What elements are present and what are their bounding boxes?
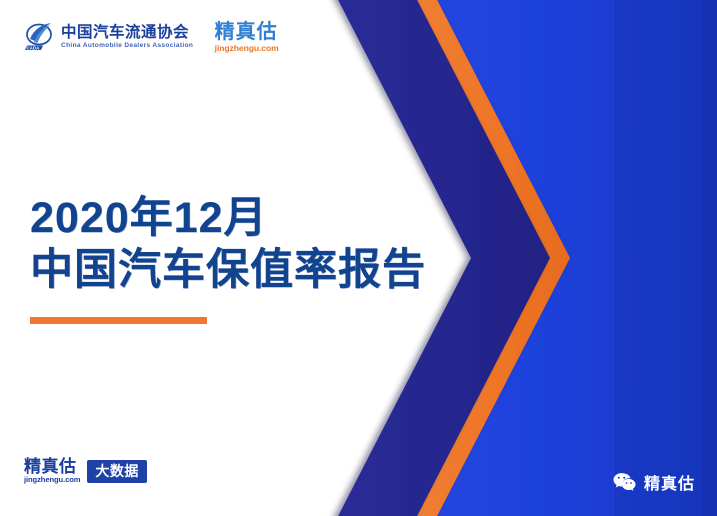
- footer-jingzhengu-domain: jingzhengu.com: [24, 476, 80, 484]
- cada-swoosh-icon: CADA: [23, 21, 55, 53]
- wechat-account-name: 精真估: [644, 470, 695, 494]
- jingzhengu-logo: 精真估 jingzhengu.com: [215, 22, 279, 53]
- title-line-subject: 中国汽车保值率报告: [30, 244, 426, 296]
- title-line-date: 2020年12月: [30, 192, 426, 244]
- wechat-lockup: 精真估: [613, 470, 695, 494]
- jingzhengu-name-cn: 精真估: [215, 22, 279, 42]
- footer-jingzhengu-logo: 精真估 jingzhengu.com: [24, 458, 80, 484]
- header-logos: CADA 中国汽车流通协会 China Automobile Dealers A…: [23, 21, 279, 53]
- cada-name-en: China Automobile Dealers Association: [61, 43, 193, 49]
- cada-name-cn: 中国汽车流通协会: [61, 25, 191, 41]
- footer-brand-lockup: 精真估 jingzhengu.com 大数据: [24, 458, 147, 484]
- footer-jingzhengu-name-cn: 精真估: [24, 458, 80, 475]
- cada-logo: CADA 中国汽车流通协会 China Automobile Dealers A…: [23, 21, 191, 53]
- slide-canvas: CADA 中国汽车流通协会 China Automobile Dealers A…: [0, 0, 717, 516]
- title-block: 2020年12月 中国汽车保值率报告: [30, 192, 426, 324]
- title-underline-rule: [30, 317, 207, 324]
- jingzhengu-domain: jingzhengu.com: [215, 44, 279, 53]
- wechat-icon: [613, 472, 636, 492]
- bigdata-badge: 大数据: [87, 460, 147, 483]
- svg-text:CADA: CADA: [26, 45, 39, 50]
